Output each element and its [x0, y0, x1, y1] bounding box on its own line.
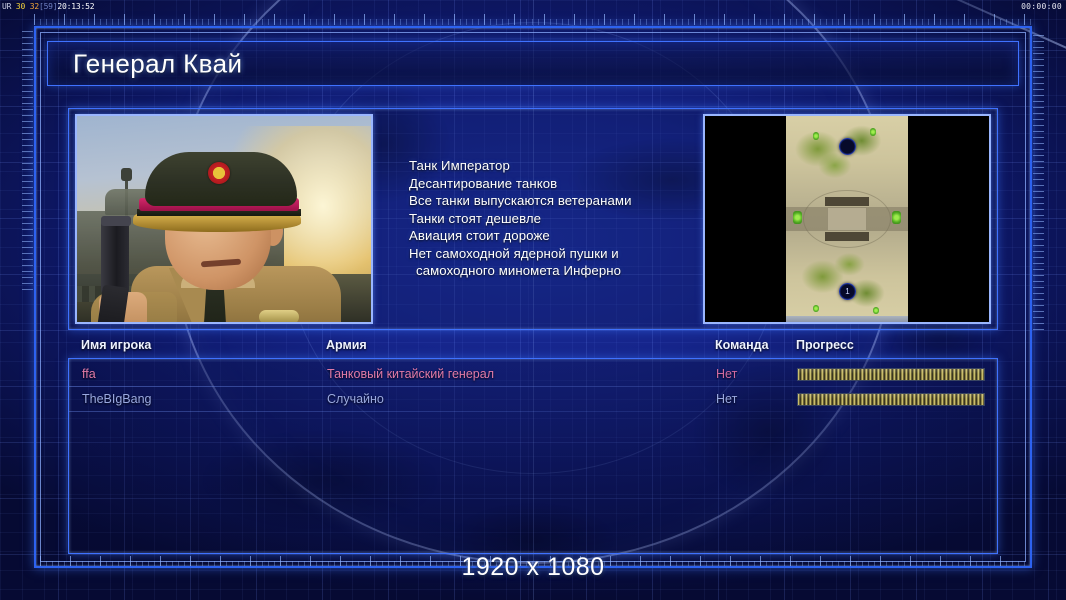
- general-title-panel: Генерал Квай: [47, 41, 1019, 86]
- map-obstacle-bottom: [825, 232, 869, 241]
- map-resource-bottom-left: [813, 305, 819, 312]
- general-portrait: [75, 114, 373, 324]
- player-list-panel: ffa Танковый китайский генерал Нет TheBI…: [68, 358, 998, 554]
- portrait-cap-visor: [133, 214, 301, 232]
- column-header-progress: Прогресс: [796, 338, 854, 352]
- map-edge-strip: [786, 316, 908, 322]
- player-progress-bar: [797, 368, 985, 381]
- player-table-header: Имя игрока Армия Команда Прогресс: [68, 338, 998, 358]
- map-start-position-top[interactable]: [839, 138, 856, 155]
- table-row[interactable]: TheBIgBang Случайно Нет: [69, 388, 997, 412]
- player-name: TheBIgBang: [82, 392, 152, 406]
- description-line: Авиация стоит дороже: [409, 227, 689, 245]
- map-resource-top-left: [813, 132, 819, 140]
- portrait-artwork: [77, 116, 371, 322]
- player-team: Нет: [716, 392, 737, 406]
- portrait-pistol-sight: [101, 216, 131, 226]
- map-resource-right: [892, 211, 901, 224]
- row-divider: [69, 386, 997, 387]
- page-title: Генерал Квай: [73, 48, 242, 79]
- row-divider: [69, 411, 997, 412]
- general-info-panel: Танк Император Десантирование танков Все…: [68, 108, 998, 330]
- map-terrain: 1: [786, 116, 908, 322]
- description-line: Десантирование танков: [409, 175, 689, 193]
- description-line: самоходного миномета Инферно: [409, 262, 689, 280]
- player-army: Случайно: [327, 392, 384, 406]
- column-header-team: Команда: [715, 338, 769, 352]
- general-description-list: Танк Император Десантирование танков Все…: [409, 157, 689, 280]
- player-progress-bar: [797, 393, 985, 406]
- description-line: Танк Император: [409, 157, 689, 175]
- description-line: Все танки выпускаются ветеранами: [409, 192, 689, 210]
- player-army: Танковый китайский генерал: [327, 367, 494, 381]
- portrait-wing-badge: [259, 310, 299, 322]
- table-row[interactable]: ffa Танковый китайский генерал Нет: [69, 363, 997, 387]
- column-header-name: Имя игрока: [81, 338, 151, 352]
- map-resource-bottom-right: [873, 307, 879, 314]
- portrait-pistol-slide: [101, 218, 129, 294]
- player-team: Нет: [716, 367, 737, 381]
- map-resource-left: [793, 211, 802, 224]
- column-header-army: Армия: [326, 338, 367, 352]
- progress-gloss: [798, 394, 984, 399]
- game-screen: UR 30 32[59]20:13:52 00:00:00 Генерал Кв…: [0, 0, 1066, 600]
- player-name: ffa: [82, 367, 96, 381]
- map-resource-top-right: [870, 128, 876, 136]
- map-center-plateau: [827, 207, 866, 232]
- description-line: Танки стоят дешевле: [409, 210, 689, 228]
- map-obstacle-top: [825, 197, 869, 206]
- progress-gloss: [798, 369, 984, 374]
- map-preview[interactable]: 1: [703, 114, 991, 324]
- resolution-label: 1920 x 1080: [0, 553, 1066, 582]
- description-line: Нет самоходной ядерной пушки и: [409, 245, 689, 263]
- map-start-position-bottom[interactable]: 1: [839, 283, 856, 300]
- portrait-cap-emblem: [208, 162, 230, 184]
